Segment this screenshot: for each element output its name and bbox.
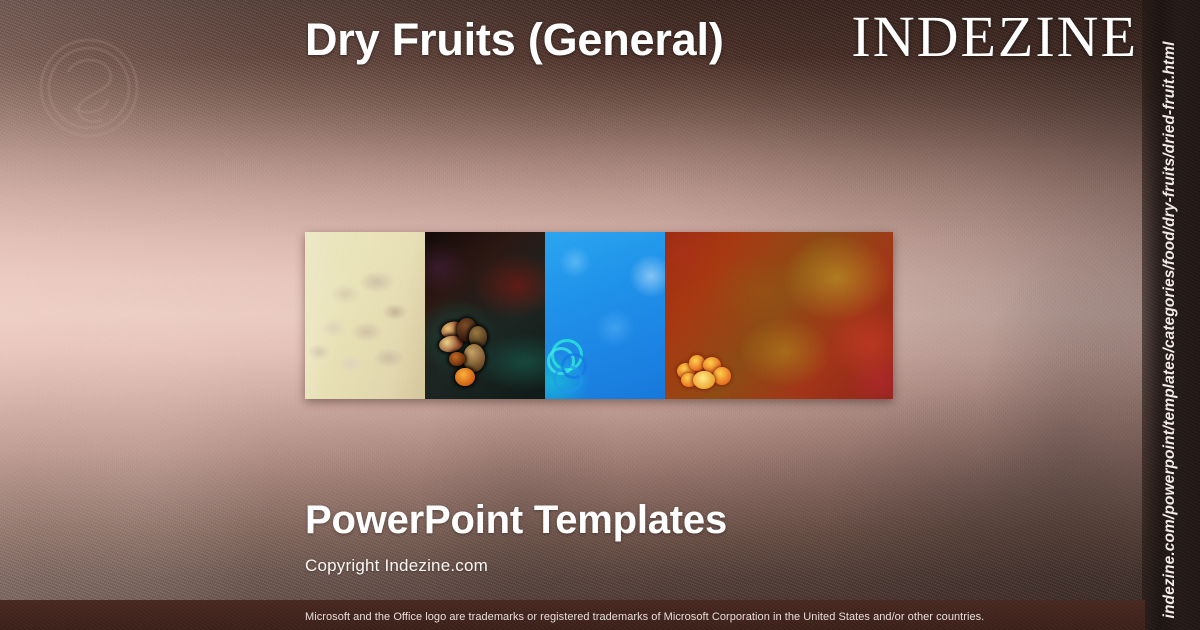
dried-fruit-cluster-icon	[439, 318, 497, 390]
thumbnail-dried-fruit-cluster-dark[interactable]	[425, 232, 545, 399]
presentation-slide: Dry Fruits (General) INDEZINE indezine.c…	[0, 0, 1200, 630]
right-url-strip	[1142, 0, 1200, 630]
thumbnail-blue-abstract-rings[interactable]	[545, 232, 665, 399]
copyright-text: Copyright Indezine.com	[305, 556, 488, 576]
template-thumbnail-strip[interactable]	[305, 232, 893, 399]
thumbnail-1-sheen	[305, 232, 425, 399]
trademark-disclaimer: Microsoft and the Office logo are tradem…	[305, 611, 984, 623]
fruit-apricot-g	[455, 368, 475, 386]
page-title: Dry Fruits (General)	[305, 14, 865, 66]
thumbnail-mixed-nuts-on-cream-tray[interactable]	[305, 232, 425, 399]
orange-blossom-icon	[677, 355, 733, 391]
right-strip-noise	[1142, 0, 1200, 630]
indezine-brand-logo: INDEZINE	[851, 8, 1138, 66]
ring-d	[553, 365, 583, 393]
fruit-berry-f	[449, 352, 465, 366]
petal-d	[713, 367, 731, 385]
petal-center	[693, 371, 715, 389]
subtitle-powerpoint-templates: PowerPoint Templates	[305, 498, 727, 543]
glowing-rings-icon	[547, 337, 601, 393]
thumbnail-warm-red-orange-abstract[interactable]	[665, 232, 893, 399]
